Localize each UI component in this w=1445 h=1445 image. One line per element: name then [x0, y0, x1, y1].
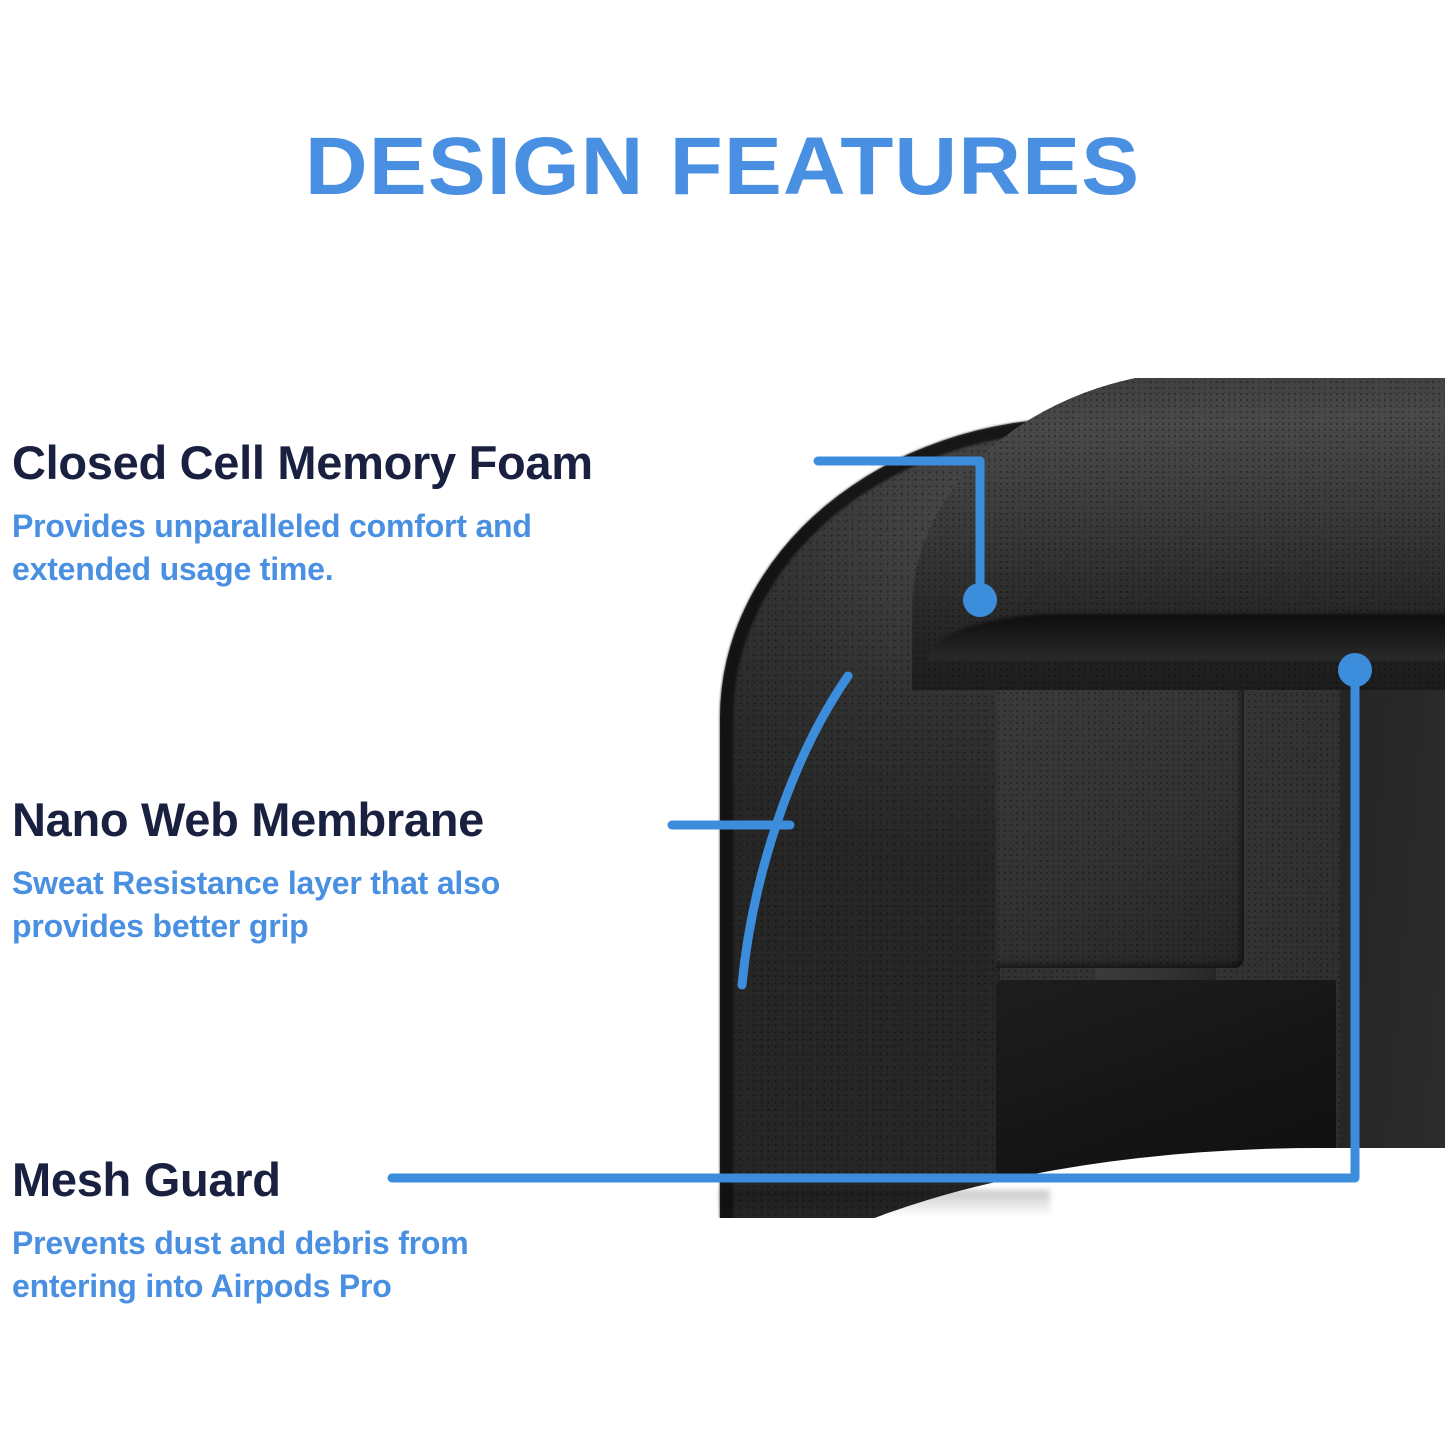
feature-description-line: extended usage time. — [12, 548, 593, 590]
product-bottom-shadow — [720, 1190, 1050, 1216]
tip-far-side — [1340, 650, 1445, 1210]
inner-panel-texture — [996, 678, 1244, 968]
feature-description-line: Provides unparalleled comfort and — [12, 505, 593, 547]
feature-closed-cell-memory-foam: Closed Cell Memory Foam Provides unparal… — [12, 438, 593, 590]
product-image — [700, 378, 1445, 1218]
feature-nano-web-membrane: Nano Web Membrane Sweat Resistance layer… — [12, 795, 500, 947]
feature-mesh-guard: Mesh Guard Prevents dust and debris from… — [12, 1155, 469, 1307]
page-title: DESIGN FEATURES — [0, 126, 1445, 208]
feature-description-line: Prevents dust and debris from — [12, 1222, 469, 1264]
feature-description-line: provides better grip — [12, 905, 500, 947]
feature-title: Closed Cell Memory Foam — [12, 438, 593, 487]
lip-groove — [928, 614, 1445, 660]
feature-title: Nano Web Membrane — [12, 795, 500, 844]
feature-description: Provides unparalleled comfort and extend… — [12, 505, 593, 589]
feature-description-line: entering into Airpods Pro — [12, 1265, 469, 1307]
infographic-page: DESIGN FEATURES — [0, 0, 1445, 1445]
feature-title: Mesh Guard — [12, 1155, 469, 1204]
feature-description: Prevents dust and debris from entering i… — [12, 1222, 469, 1306]
feature-description: Sweat Resistance layer that also provide… — [12, 862, 500, 946]
inner-raised-panel — [996, 678, 1244, 968]
feature-description-line: Sweat Resistance layer that also — [12, 862, 500, 904]
